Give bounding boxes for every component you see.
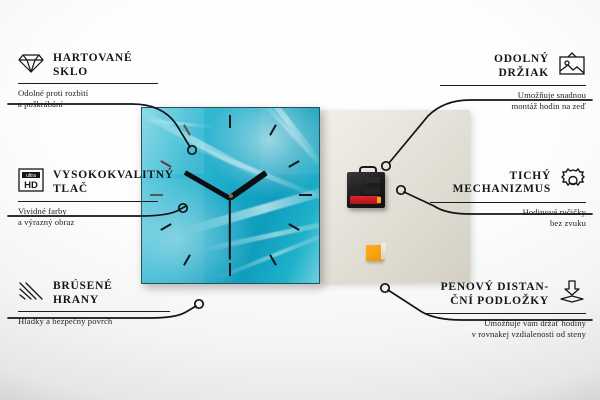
feature-description: Vividné farbya výrazný obraz [18, 206, 158, 227]
feature-durable-hanger: ODOLNÝDRŽIAK Umožňuje snadnoumontáž hodi… [440, 52, 586, 111]
infographic-canvas: HARTOVANÉSKLO Odolné proti rozbitía pošk… [0, 0, 600, 400]
feature-title: HARTOVANÉSKLO [53, 52, 132, 79]
feature-description: Hladký a bezpečný povrch [18, 316, 170, 327]
connector-endpoint [195, 300, 203, 308]
connector-endpoint [381, 284, 389, 292]
feature-description: Umožňuje snadnoumontáž hodin na zeď [440, 90, 586, 111]
divider [18, 201, 158, 202]
divider [18, 311, 170, 312]
svg-text:HD: HD [24, 180, 38, 191]
feature-silent-mechanism: TICHÝMECHANIZMUS Hodinové ručičkybez zvu… [430, 168, 586, 228]
connector-endpoint [188, 146, 196, 154]
diamond-icon [18, 52, 44, 79]
feature-title: TICHÝMECHANIZMUS [453, 170, 551, 197]
feature-title: PENOVÝ DISTAN-ČNÍ PODLOŽKY [441, 281, 549, 308]
feature-title: VYSOKOKVALITNÝTLAČ [53, 169, 174, 196]
divider [430, 202, 586, 203]
feature-title: BRÚSENÉHRANY [53, 280, 113, 307]
feature-high-quality-print: ultra HD VYSOKOKVALITNÝTLAČ Vividné farb… [18, 168, 158, 227]
feature-beveled-edges: BRÚSENÉHRANY Hladký a bezpečný povrch [18, 280, 170, 327]
gear-icon [560, 168, 586, 198]
feature-description: Odolné proti rozbitía poškrábání [18, 88, 158, 109]
divider [440, 85, 586, 86]
feature-title: ODOLNÝDRŽIAK [494, 53, 549, 80]
beveled-edges-icon [18, 280, 44, 307]
svg-text:ultra: ultra [26, 173, 36, 179]
feature-description: Umožňuje vám držať hodinyv rovnakej vzdi… [424, 318, 586, 339]
divider [424, 313, 586, 314]
feature-description: Hodinové ručičkybez zvuku [430, 207, 586, 228]
wall-hanger-frame-icon [558, 52, 586, 81]
foam-spacer-arrow-icon [558, 280, 586, 309]
connector-endpoint [382, 162, 390, 170]
ultra-hd-badge-icon: ultra HD [18, 168, 44, 197]
connector-endpoint [397, 186, 405, 194]
feature-foam-spacers: PENOVÝ DISTAN-ČNÍ PODLOŽKY Umožňuje vám … [424, 280, 586, 339]
divider [18, 83, 158, 84]
feature-tempered-glass: HARTOVANÉSKLO Odolné proti rozbitía pošk… [18, 52, 158, 109]
